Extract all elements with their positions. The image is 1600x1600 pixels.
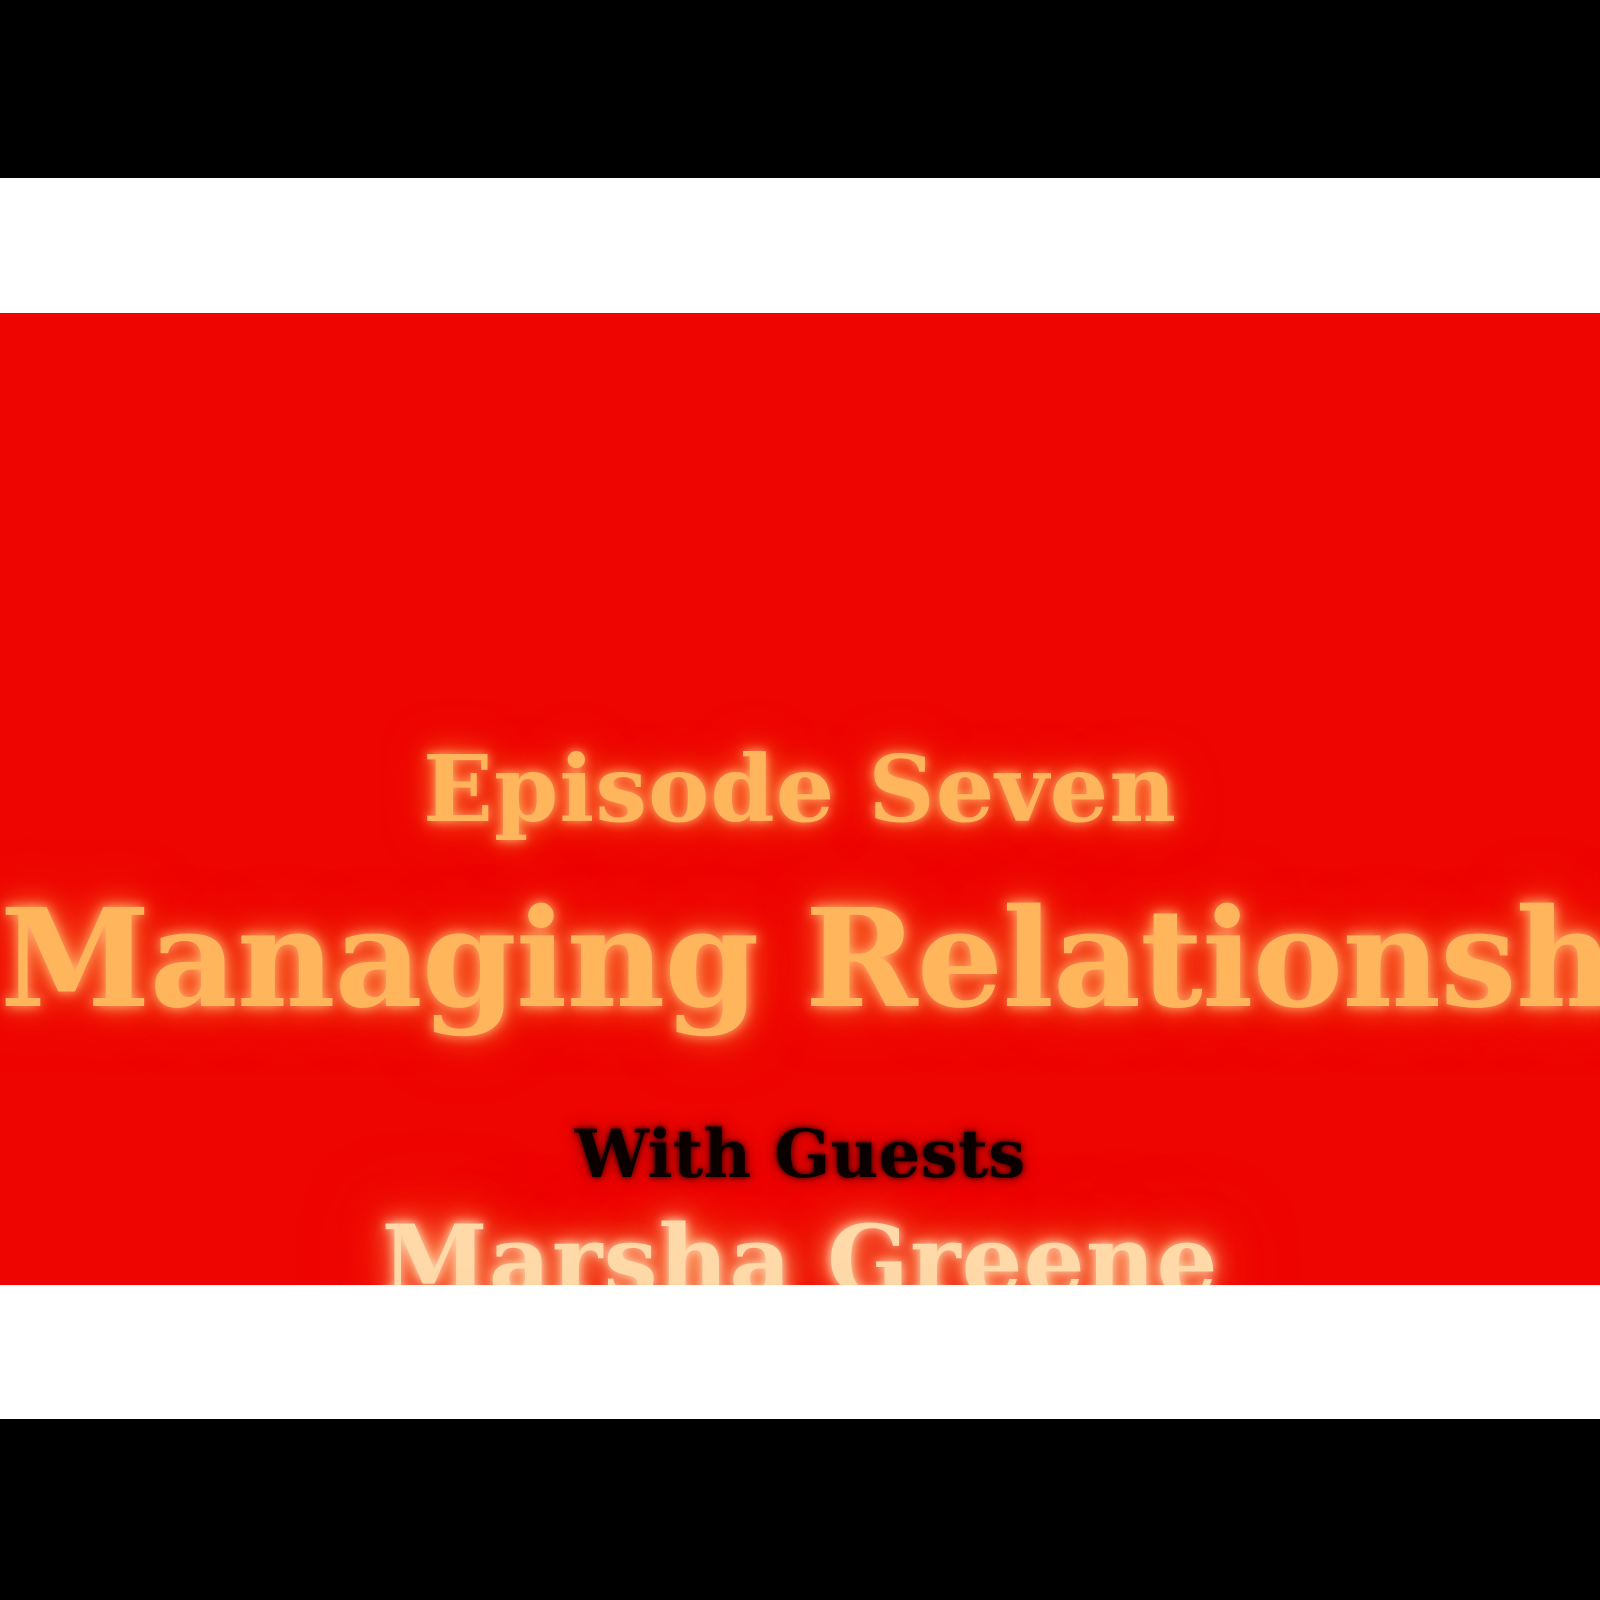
episode-title: Managing Relationships (0, 891, 1600, 1027)
podcast-episode-artwork: Episode Seven Managing Relationships Wit… (0, 0, 1600, 1600)
episode-number-label: Episode Seven (0, 743, 1600, 835)
guest-name: Marsha Greene (0, 1213, 1600, 1285)
guests-heading: With Guests (0, 1121, 1600, 1187)
episode-art-panel: Episode Seven Managing Relationships Wit… (0, 313, 1600, 1285)
